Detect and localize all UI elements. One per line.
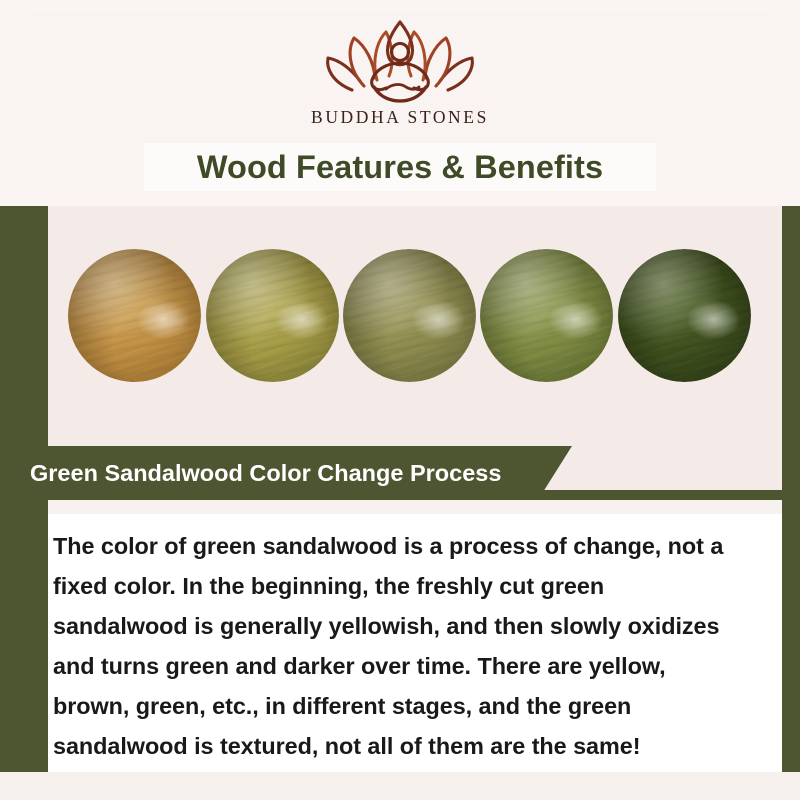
brand-logo-block: BUDDHA STONES [0, 18, 800, 128]
bead-shading [206, 249, 339, 382]
body-line: brown, green, etc., in different stages,… [53, 686, 777, 726]
body-line: fixed color. In the beginning, the fresh… [53, 566, 777, 606]
body-panel: The color of green sandalwood is a proce… [48, 500, 782, 772]
body-paragraph: The color of green sandalwood is a proce… [53, 526, 777, 766]
wood-bead-olive-brown [343, 249, 476, 382]
title-bar: Wood Features & Benefits [144, 143, 656, 191]
sub-banner: Green Sandalwood Color Change Process [0, 446, 572, 500]
poster-canvas: BUDDHA STONES Wood Features & Benefits G… [0, 0, 800, 800]
body-line: sandalwood is generally yellowish, and t… [53, 606, 777, 646]
bead-shading [480, 249, 613, 382]
bottom-cream-strip [0, 772, 800, 800]
body-top-strip [48, 500, 782, 514]
wood-bead-dark-green [618, 249, 751, 382]
body-line: The color of green sandalwood is a proce… [53, 526, 777, 566]
sub-banner-title: Green Sandalwood Color Change Process [30, 460, 501, 487]
bead-shading [618, 249, 751, 382]
wood-bead-olive-green [480, 249, 613, 382]
wood-bead-yellow-green [206, 249, 339, 382]
wood-bead-freshly-cut-yellow [68, 249, 201, 382]
body-line: and turns green and darker over time. Th… [53, 646, 777, 686]
brand-name: BUDDHA STONES [0, 107, 800, 128]
header-panel: BUDDHA STONES Wood Features & Benefits [0, 0, 800, 206]
bead-shading [343, 249, 476, 382]
page-title: Wood Features & Benefits [197, 149, 603, 186]
lotus-meditation-icon [316, 18, 484, 104]
bead-shading [68, 249, 201, 382]
body-line: sandalwood is textured, not all of them … [53, 726, 777, 766]
